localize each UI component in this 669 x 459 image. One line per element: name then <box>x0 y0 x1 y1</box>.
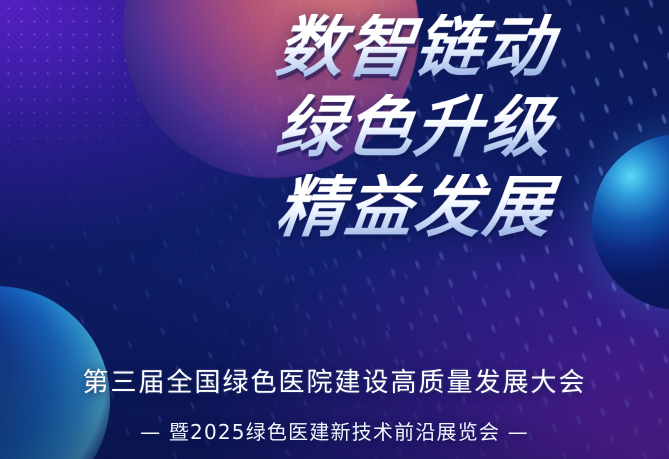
headline-line-3: 精益发展 <box>201 174 629 241</box>
exhibition-subtitle: — 暨2025绿色医建新技术前沿展览会 — <box>0 416 669 445</box>
headline-line-2: 绿色升级 <box>201 94 629 161</box>
conference-title: 第三届全国绿色医院建设高质量发展大会 <box>0 362 669 399</box>
headline-line-1: 数智链动 <box>201 14 629 81</box>
headline-block: 数智链动 绿色升级 精益发展 <box>205 0 625 241</box>
footer-block: 第三届全国绿色医院建设高质量发展大会 — 暨2025绿色医建新技术前沿展览会 — <box>0 362 669 445</box>
conference-poster: 数智链动 绿色升级 精益发展 第三届全国绿色医院建设高质量发展大会 — 暨202… <box>0 0 669 459</box>
